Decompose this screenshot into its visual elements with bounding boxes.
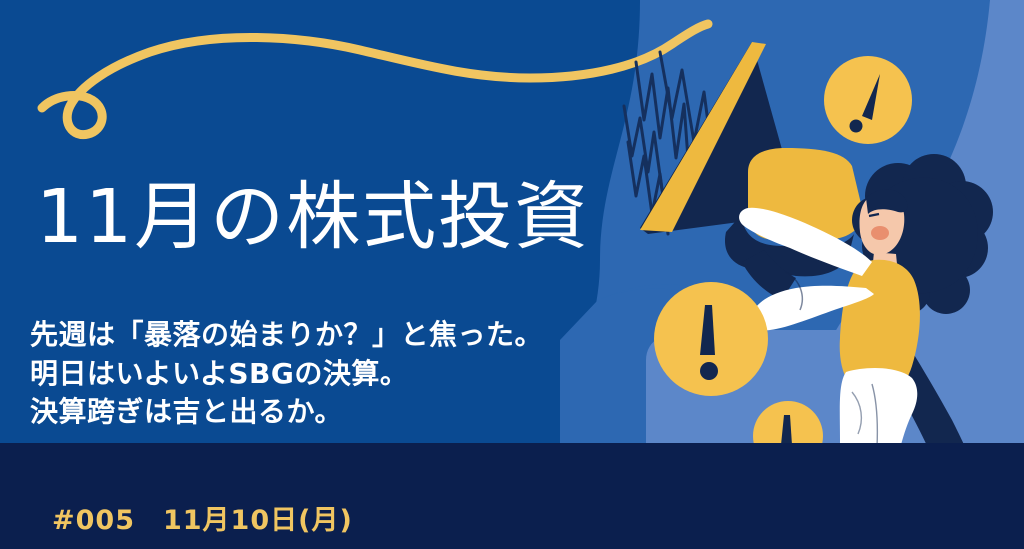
subtitle-block: 先週は「暴落の始まりか？」と焦った。 明日はいよいよSBGの決算。 決算跨ぎは吉… [30, 316, 543, 432]
woman-blush [871, 226, 889, 240]
exclamation-circle-small-top [824, 56, 912, 144]
page-title: 11月の株式投資 [36, 180, 590, 254]
exclamation-circle-large [654, 282, 768, 396]
subtitle-line-3: 決算跨ぎは吉と出るか。 [30, 393, 543, 432]
subtitle-line-1: 先週は「暴落の始まりか？」と焦った。 [30, 316, 543, 355]
subtitle-line-2: 明日はいよいよSBGの決算。 [30, 355, 543, 394]
footer-issue-and-date: #005 11月10日(月) [52, 498, 353, 537]
banner-card: 11月の株式投資 先週は「暴落の始まりか？」と焦った。 明日はいよいよSBGの決… [0, 0, 1024, 549]
